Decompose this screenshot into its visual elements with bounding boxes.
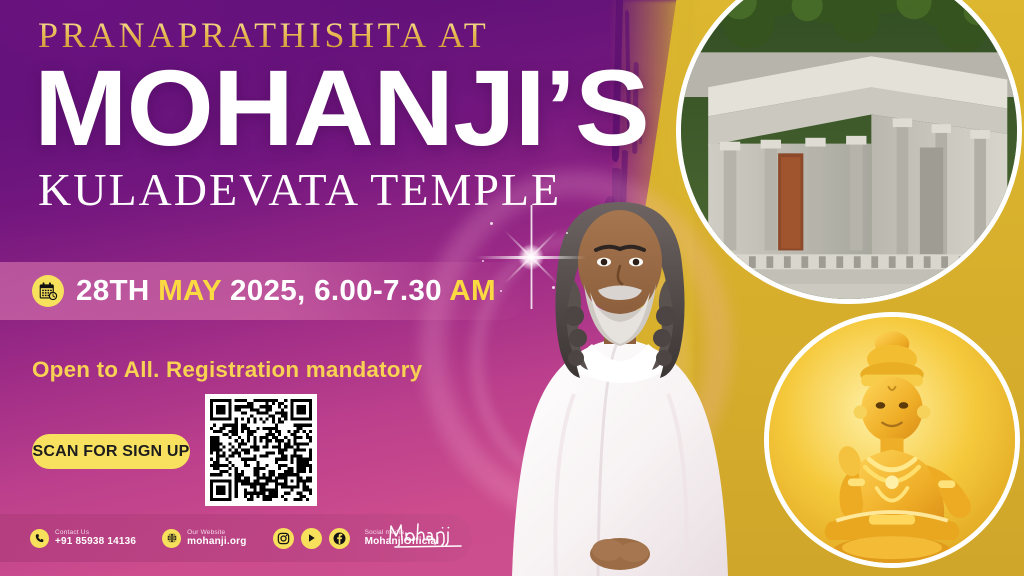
globe-icon — [162, 529, 181, 548]
event-date-text: 28TH MAY 2025, 6.00-7.30 AM — [76, 275, 496, 308]
title-subtitle: KULADEVATA TEMPLE — [38, 163, 594, 216]
deity-photo — [764, 312, 1020, 568]
contact-value: +91 85938 14136 — [55, 536, 136, 548]
contact-label: Contact Us — [55, 529, 136, 536]
headline-block: PRANAPRATHISHTA AT MOHANJI’S KULADEVATA … — [34, 14, 594, 216]
youtube-icon[interactable] — [301, 528, 322, 549]
qr-code[interactable] — [205, 394, 317, 506]
date-day: 28TH — [76, 275, 158, 307]
phone-icon — [30, 529, 49, 548]
contact-info[interactable]: Contact Us +91 85938 14136 — [30, 529, 136, 548]
website-info[interactable]: Our Website mohanji.org — [162, 529, 246, 548]
date-month: MAY — [158, 275, 221, 307]
facebook-icon[interactable] — [329, 528, 350, 549]
calendar-clock-icon — [32, 275, 64, 307]
event-date-band: 28TH MAY 2025, 6.00-7.30 AM — [0, 262, 530, 320]
page-title: MOHANJI’S — [34, 58, 616, 157]
promotional-banner: PRANAPRATHISHTA AT MOHANJI’S KULADEVATA … — [0, 0, 1024, 576]
scan-for-signup-button[interactable]: SCAN FOR SIGN UP — [32, 434, 190, 469]
website-value: mohanji.org — [187, 536, 246, 548]
registration-note: Open to All. Registration mandatory — [32, 357, 422, 383]
website-label: Our Website — [187, 529, 246, 536]
instagram-icon[interactable] — [273, 528, 294, 549]
mohanji-logo — [385, 520, 471, 554]
date-meridiem: AM — [449, 275, 496, 307]
date-year-time: 2025, 6.00-7.30 — [222, 275, 450, 307]
